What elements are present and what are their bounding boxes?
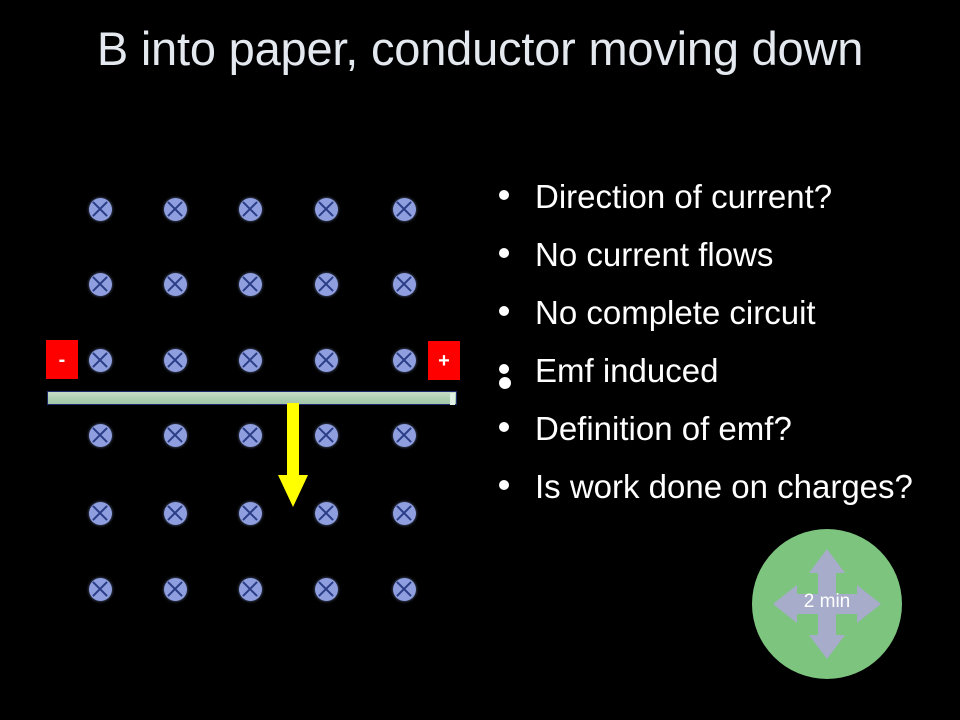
conductor-bar-endcap	[450, 393, 455, 405]
bullet-dot-icon	[499, 364, 509, 374]
field-symbol-into-page	[239, 502, 262, 525]
field-symbol-into-page	[315, 578, 338, 601]
arrow-head	[278, 475, 308, 507]
bullet-dot-icon	[499, 422, 509, 432]
slide-canvas: B into paper, conductor moving down - + …	[0, 0, 960, 720]
bullet-text: Direction of current?	[535, 178, 832, 215]
velocity-arrow-down-icon	[278, 403, 310, 507]
field-symbol-into-page	[164, 198, 187, 221]
bullet-item: Definition of emf?	[495, 408, 945, 450]
field-symbol-into-page	[393, 273, 416, 296]
conductor-bar	[47, 391, 457, 405]
field-symbol-into-page	[164, 273, 187, 296]
field-symbol-into-page	[393, 349, 416, 372]
terminal-negative: -	[46, 340, 78, 379]
field-symbol-into-page	[315, 273, 338, 296]
bullet-item: No current flows	[495, 234, 945, 276]
bullet-dot-icon	[499, 480, 509, 490]
arrow-shaft	[287, 403, 299, 479]
bullet-list: Direction of current?No current flowsNo …	[495, 176, 945, 523]
field-symbol-into-page	[393, 502, 416, 525]
bullet-text: No complete circuit	[535, 294, 816, 331]
bullet-text: Emf induced	[535, 352, 718, 389]
field-symbol-into-page	[315, 424, 338, 447]
field-symbol-into-page	[89, 198, 112, 221]
bullet-item: No complete circuit	[495, 292, 945, 334]
bullet-text: Is work done on charges?	[535, 468, 913, 505]
field-symbol-into-page	[393, 424, 416, 447]
field-symbol-into-page	[239, 578, 262, 601]
field-symbol-into-page	[89, 349, 112, 372]
field-symbol-into-page	[393, 578, 416, 601]
field-symbol-into-page	[315, 349, 338, 372]
bullet-dot-icon	[499, 306, 509, 316]
bullet-item: Direction of current?	[495, 176, 945, 218]
field-symbol-into-page	[315, 502, 338, 525]
field-symbol-into-page	[393, 198, 416, 221]
bullet-text: Definition of emf?	[535, 410, 792, 447]
field-symbol-into-page	[315, 198, 338, 221]
field-symbol-into-page	[89, 273, 112, 296]
field-symbol-into-page	[239, 198, 262, 221]
field-symbol-into-page	[164, 502, 187, 525]
timer-label: 2 min	[752, 590, 902, 615]
bullet-dot-icon	[499, 248, 509, 258]
field-symbol-into-page	[164, 578, 187, 601]
field-symbol-into-page	[89, 502, 112, 525]
bullet-item: Emf induced	[495, 350, 945, 392]
terminal-positive: +	[428, 341, 460, 380]
field-symbol-into-page	[164, 349, 187, 372]
field-symbol-into-page	[239, 273, 262, 296]
field-symbol-into-page	[89, 578, 112, 601]
field-symbol-into-page	[89, 424, 112, 447]
bullet-text: No current flows	[535, 236, 773, 273]
timer-badge[interactable]: 2 min	[752, 529, 902, 679]
bullet-dot-icon	[499, 190, 509, 200]
field-symbol-into-page	[164, 424, 187, 447]
field-symbol-into-page	[239, 349, 262, 372]
field-symbol-into-page	[239, 424, 262, 447]
bullet-item: Is work done on charges?	[495, 466, 945, 508]
